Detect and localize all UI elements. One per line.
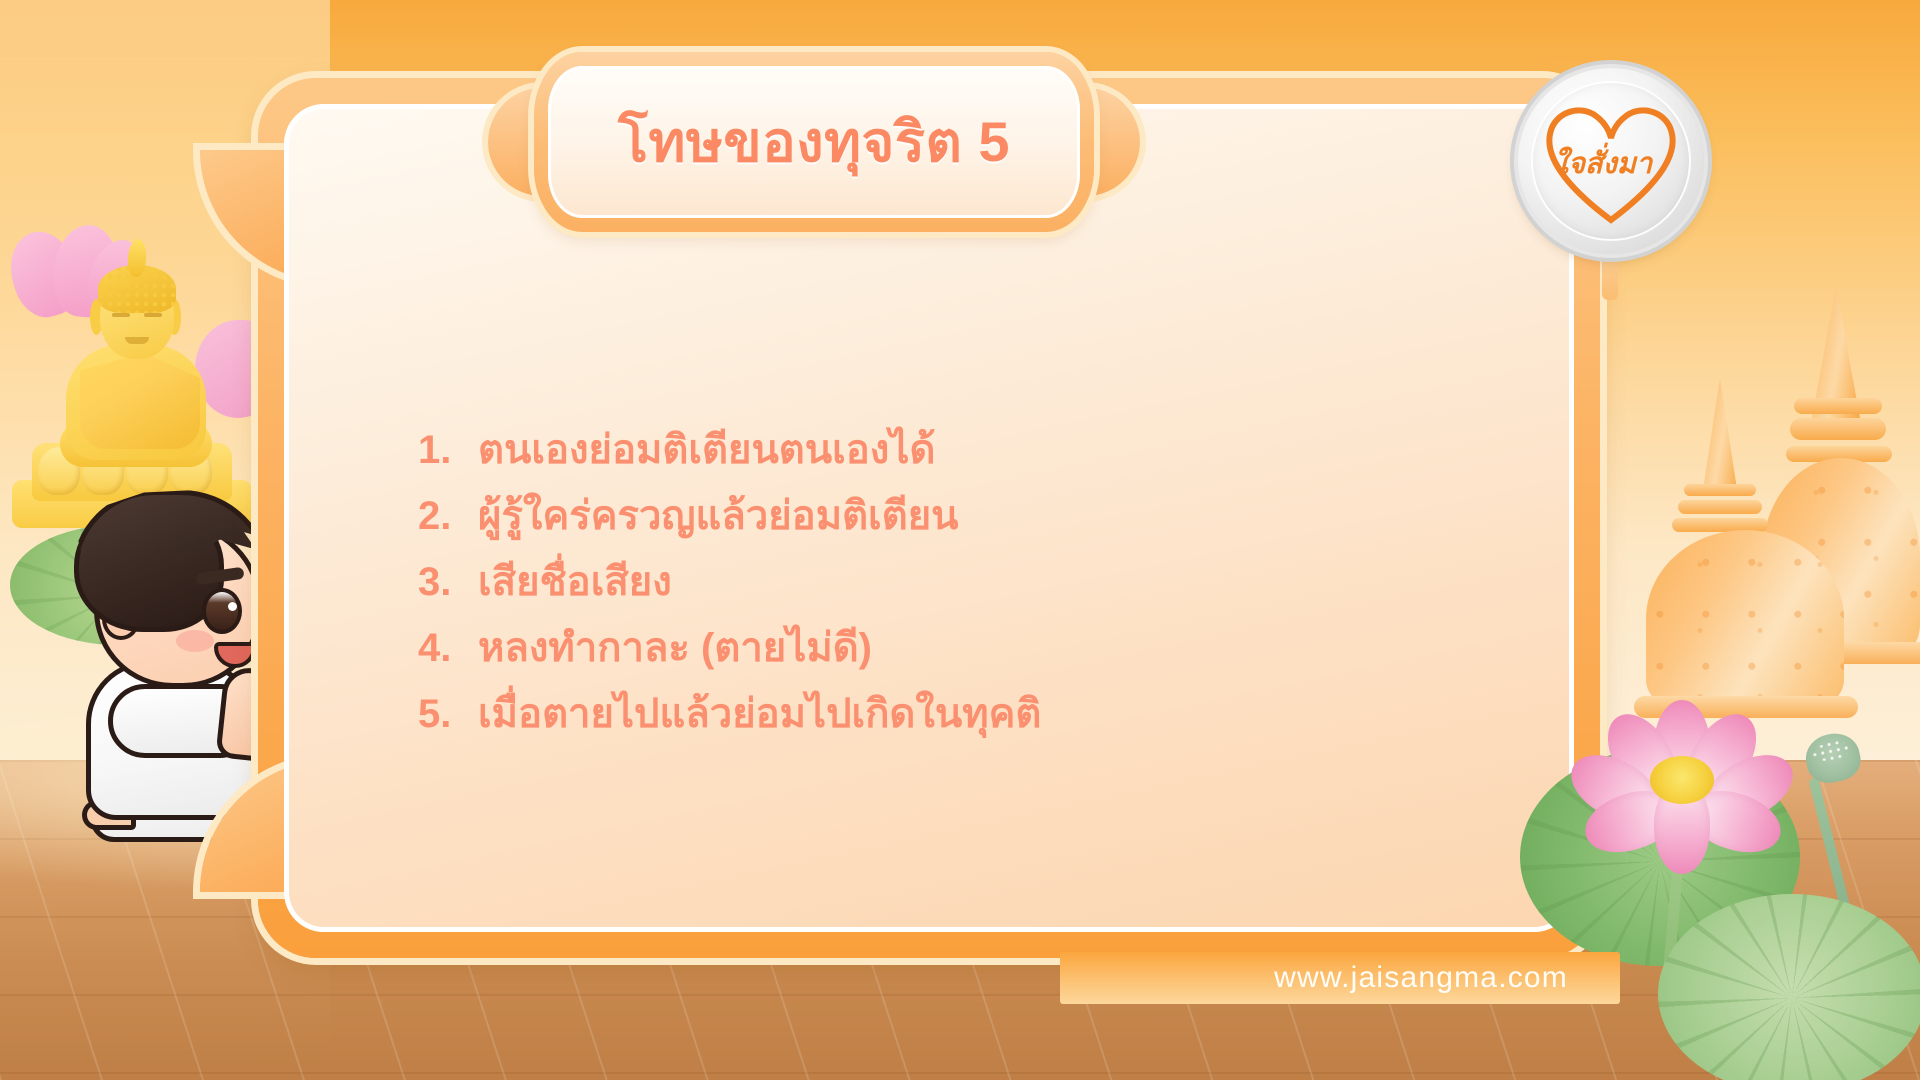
list-item-number: 5. [418, 694, 464, 734]
brand-logo-text: ใจสั่งมา [1554, 140, 1652, 186]
list-item: 3. เสียชื่อเสียง [418, 562, 1478, 602]
banner-face: โทษของทุจริต 5 [548, 66, 1080, 218]
brand-logo[interactable]: ใจสั่งมา [1518, 68, 1704, 254]
list-item-number: 1. [418, 430, 464, 470]
website-url[interactable]: www.jaisangma.com [1274, 961, 1568, 995]
list-item: 4. หลงทำกาละ (ตายไม่ดี) [418, 628, 1478, 668]
list-item-label: เมื่อตายไปแล้วย่อมไปเกิดในทุคติ [478, 694, 1041, 734]
lotus-flower-right [1510, 690, 1920, 1080]
lotus-blossom [1588, 704, 1778, 862]
list-item-label: ตนเองย่อมติเตียนตนเองได้ [478, 430, 935, 470]
title-banner: โทษของทุจริต 5 [534, 52, 1094, 232]
page-title: โทษของทุจริต 5 [618, 114, 1010, 170]
list-item: 1. ตนเองย่อมติเตียนตนเองได้ [418, 430, 1478, 470]
slide-canvas: โทษของทุจริต 5 1. ตนเองย่อมติเตียนตนเองไ… [0, 0, 1920, 1080]
list-item-number: 3. [418, 562, 464, 602]
lotus-center [1650, 756, 1714, 804]
website-band: www.jaisangma.com [1060, 952, 1620, 1004]
list-item-number: 2. [418, 496, 464, 536]
list-item-label: หลงทำกาละ (ตายไม่ดี) [478, 628, 872, 668]
lily-pad-lower [1658, 894, 1920, 1080]
list-item-label: ผู้รู้ใคร่ครวญแล้วย่อมติเตียน [478, 496, 958, 536]
lesson-list: 1. ตนเองย่อมติเตียนตนเองได้ 2. ผู้รู้ใคร… [418, 430, 1478, 760]
list-item: 5. เมื่อตายไปแล้วย่อมไปเกิดในทุคติ [418, 694, 1478, 734]
list-item-number: 4. [418, 628, 464, 668]
pagoda-front [1650, 378, 1880, 738]
list-item: 2. ผู้รู้ใคร่ครวญแล้วย่อมติเตียน [418, 496, 1478, 536]
list-item-label: เสียชื่อเสียง [478, 562, 672, 602]
